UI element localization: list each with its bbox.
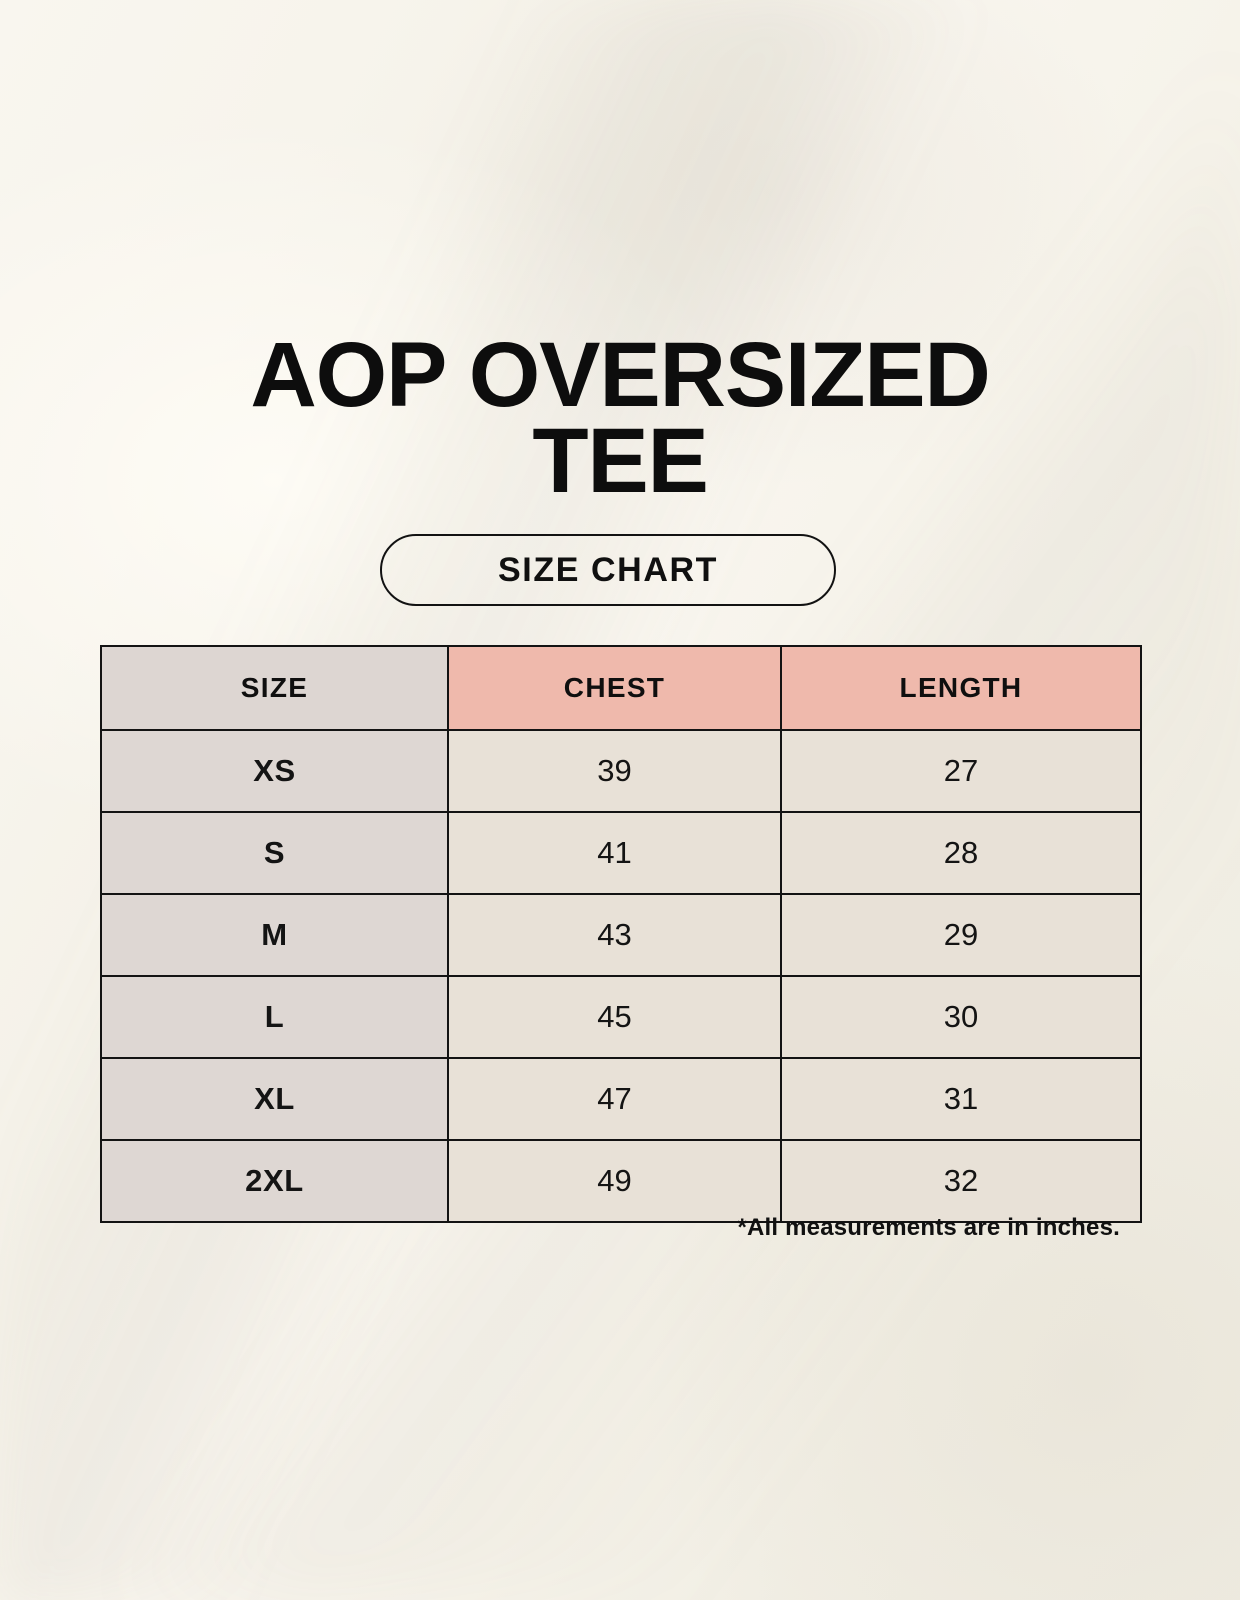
size-chart-badge-label: SIZE CHART xyxy=(498,551,718,590)
cell-length: 31 xyxy=(781,1058,1141,1140)
size-chart-badge: SIZE CHART xyxy=(380,534,836,606)
cell-chest: 49 xyxy=(448,1140,781,1222)
page-title: AOP OVERSIZED TEE xyxy=(0,333,1240,504)
size-chart-table: SIZE CHEST LENGTH XS 39 27 S 41 28 M 43 … xyxy=(100,645,1142,1223)
cell-size: M xyxy=(101,894,448,976)
table-row: S 41 28 xyxy=(101,812,1141,894)
cell-chest: 43 xyxy=(448,894,781,976)
cell-size: XS xyxy=(101,730,448,812)
cell-length: 28 xyxy=(781,812,1141,894)
cell-size: L xyxy=(101,976,448,1058)
cell-length: 32 xyxy=(781,1140,1141,1222)
table-row: L 45 30 xyxy=(101,976,1141,1058)
size-chart-poster: AOP OVERSIZED TEE SIZE CHART SIZE CHEST … xyxy=(0,0,1240,1600)
column-header-size: SIZE xyxy=(101,646,448,730)
table-row: 2XL 49 32 xyxy=(101,1140,1141,1222)
cell-size: XL xyxy=(101,1058,448,1140)
cell-size: 2XL xyxy=(101,1140,448,1222)
column-header-chest: CHEST xyxy=(448,646,781,730)
table-header-row: SIZE CHEST LENGTH xyxy=(101,646,1141,730)
column-header-length: LENGTH xyxy=(781,646,1141,730)
table-header: SIZE CHEST LENGTH xyxy=(101,646,1141,730)
table-body: XS 39 27 S 41 28 M 43 29 L 45 30 XL 47 xyxy=(101,730,1141,1222)
measurement-units-footnote: *All measurements are in inches. xyxy=(0,1214,1120,1242)
cell-size: S xyxy=(101,812,448,894)
table-row: XS 39 27 xyxy=(101,730,1141,812)
cell-length: 30 xyxy=(781,976,1141,1058)
table-row: XL 47 31 xyxy=(101,1058,1141,1140)
table-row: M 43 29 xyxy=(101,894,1141,976)
cell-chest: 47 xyxy=(448,1058,781,1140)
cell-chest: 45 xyxy=(448,976,781,1058)
cell-chest: 39 xyxy=(448,730,781,812)
cell-length: 29 xyxy=(781,894,1141,976)
cell-chest: 41 xyxy=(448,812,781,894)
cell-length: 27 xyxy=(781,730,1141,812)
